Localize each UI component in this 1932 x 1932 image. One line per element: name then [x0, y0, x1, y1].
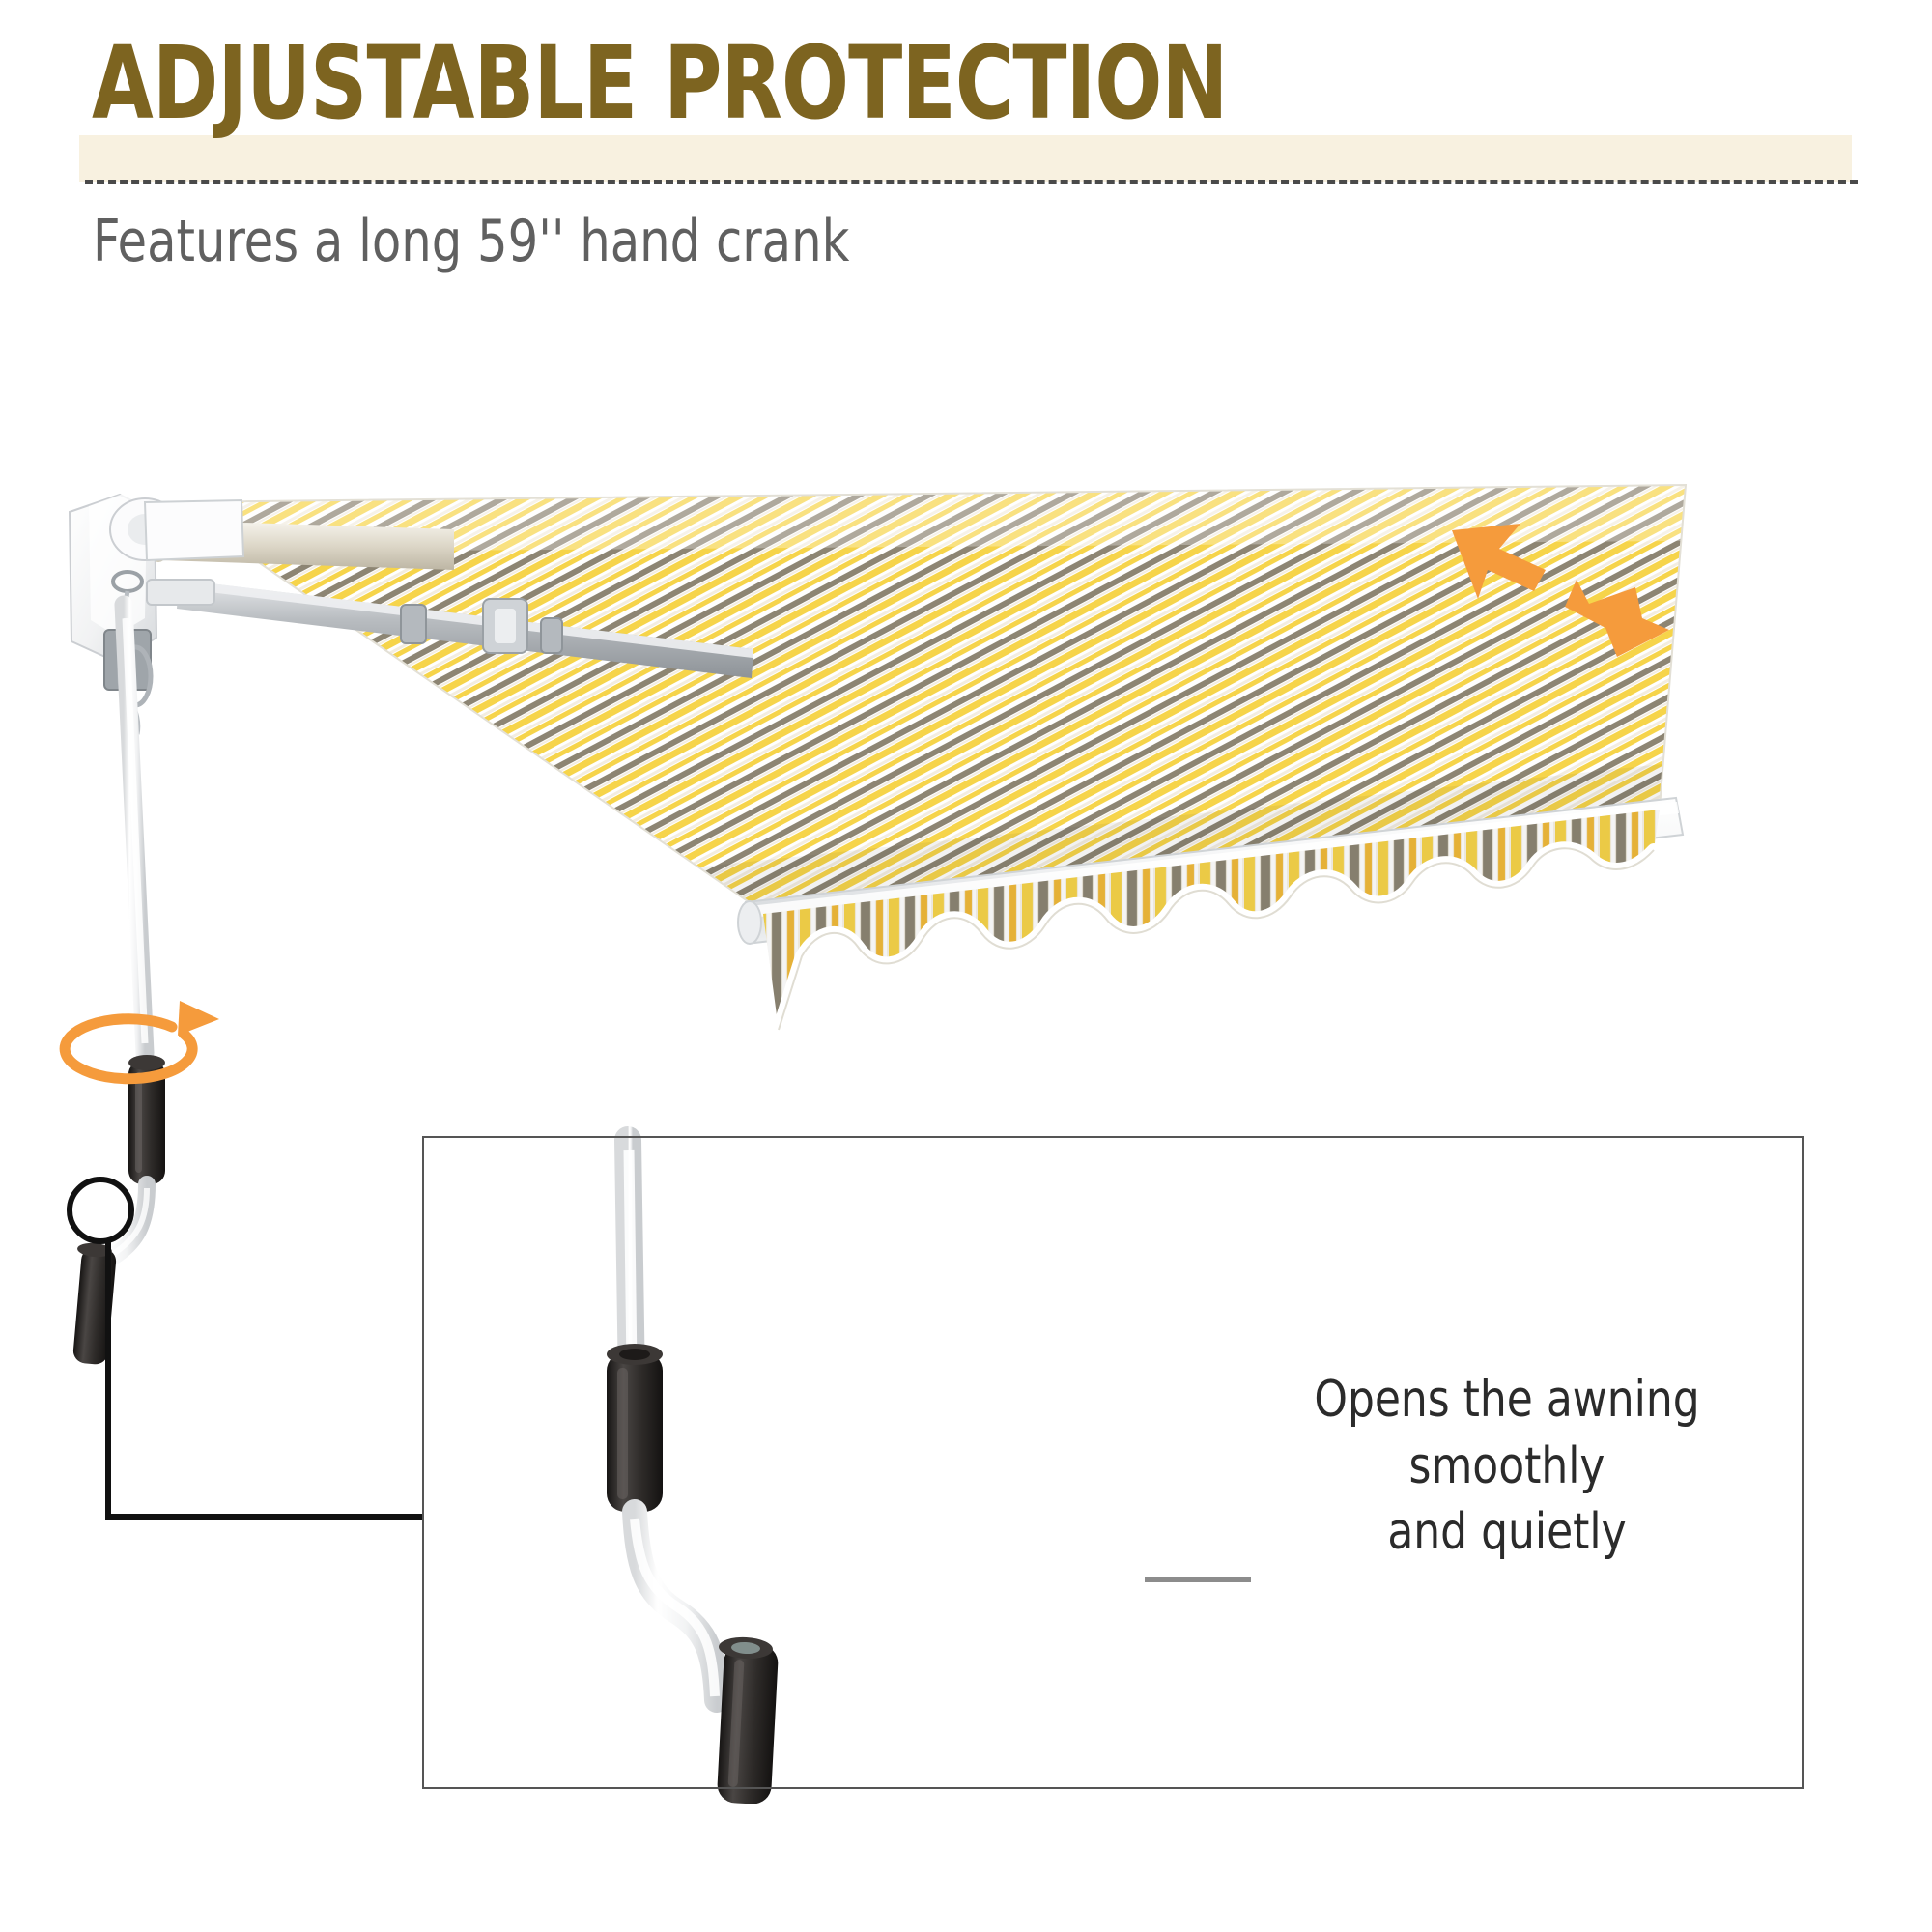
detail-caption-line-1: Opens the awning smoothly	[1314, 1371, 1699, 1495]
detail-caption-line-2: and quietly	[1387, 1503, 1626, 1561]
detail-caption: Opens the awning smoothly and quietly	[1271, 1367, 1744, 1566]
detail-caption-divider	[1145, 1577, 1251, 1582]
crank-detail-callout	[70, 1179, 422, 1517]
hand-crank	[72, 605, 165, 1365]
